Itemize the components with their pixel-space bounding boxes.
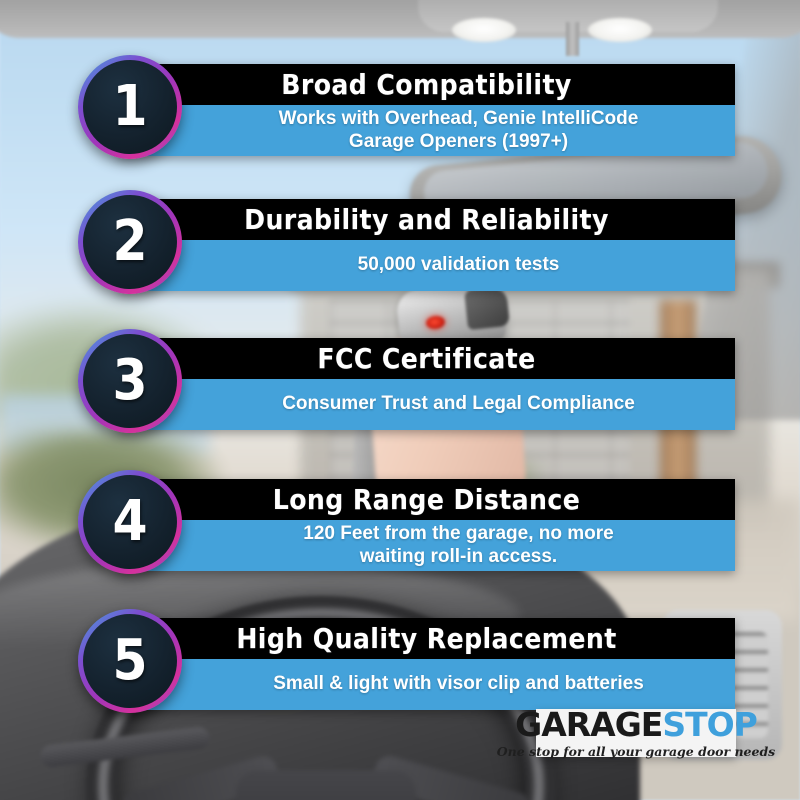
feature-bars: High Quality Replacement Small & light w…: [118, 618, 735, 710]
feature-subtitle: 120 Feet from the garage, no morewaiting…: [118, 520, 735, 571]
feature-number-badge: 2: [78, 190, 182, 294]
feature-title: FCC Certificate: [118, 338, 735, 379]
brand-logo-wordmark: GARAGESTOP: [515, 708, 757, 741]
feature-number: 3: [83, 334, 177, 428]
feature-bars: Long Range Distance 120 Feet from the ga…: [118, 479, 735, 571]
feature-subtitle: 50,000 validation tests: [118, 240, 735, 291]
brand-logo-garage: GARAGE: [515, 705, 662, 744]
feature-number-badge: 4: [78, 470, 182, 574]
feature-title: Broad Compatibility: [118, 64, 735, 105]
feature-bars: FCC Certificate Consumer Trust and Legal…: [118, 338, 735, 430]
feature-title: High Quality Replacement: [118, 618, 735, 659]
feature-bars: Durability and Reliability 50,000 valida…: [118, 199, 735, 291]
feature-list: Broad Compatibility Works with Overhead,…: [0, 0, 800, 800]
feature-subtitle: Works with Overhead, Genie IntelliCodeGa…: [118, 105, 735, 156]
feature-number: 1: [83, 60, 177, 154]
brand-logo: GARAGESTOP One stop for all your garage …: [536, 709, 736, 757]
feature-number-badge: 5: [78, 609, 182, 713]
feature-number-badge: 3: [78, 329, 182, 433]
feature-subtitle: Small & light with visor clip and batter…: [118, 659, 735, 710]
feature-subtitle: Consumer Trust and Legal Compliance: [118, 379, 735, 430]
feature-number: 2: [83, 195, 177, 289]
feature-title: Long Range Distance: [118, 479, 735, 520]
feature-number: 4: [83, 475, 177, 569]
brand-logo-stop: STOP: [662, 705, 757, 744]
infographic-canvas: Broad Compatibility Works with Overhead,…: [0, 0, 800, 800]
feature-title: Durability and Reliability: [118, 199, 735, 240]
feature-number-badge: 1: [78, 55, 182, 159]
feature-number: 5: [83, 614, 177, 708]
brand-tagline: One stop for all your garage door needs: [497, 744, 775, 759]
feature-bars: Broad Compatibility Works with Overhead,…: [118, 64, 735, 156]
